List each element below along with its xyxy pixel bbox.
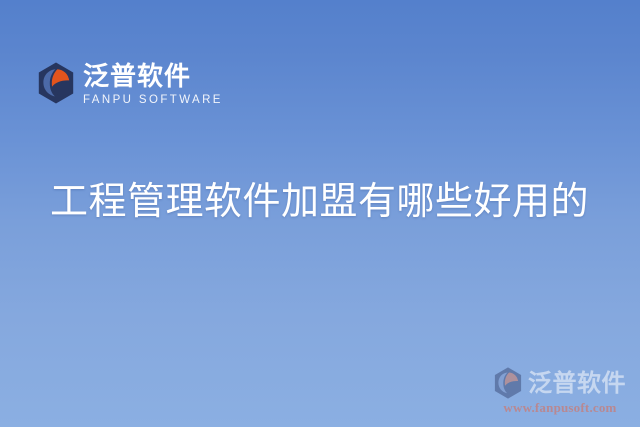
headline-title: 工程管理软件加盟有哪些好用的: [50, 176, 589, 226]
fanpu-hexagon-logo-icon: [38, 62, 74, 104]
brand-name-cn: 泛普软件: [83, 62, 223, 92]
watermark-lockup: 泛普软件: [494, 367, 626, 399]
brand-name-en: FANPU SOFTWARE: [83, 94, 223, 107]
brand-lockup: 泛普软件 FANPU SOFTWARE: [38, 62, 223, 107]
brand-text-group: 泛普软件 FANPU SOFTWARE: [83, 62, 223, 107]
promo-banner: 泛普软件 FANPU SOFTWARE 工程管理软件加盟有哪些好用的 泛普软件 …: [0, 0, 640, 427]
watermark-url: www.fanpusoft.com: [503, 400, 616, 415]
watermark: 泛普软件 www.fanpusoft.com: [494, 367, 626, 415]
fanpu-hexagon-logo-watermark-icon: [494, 367, 522, 399]
watermark-name-cn: 泛普软件: [528, 369, 626, 397]
